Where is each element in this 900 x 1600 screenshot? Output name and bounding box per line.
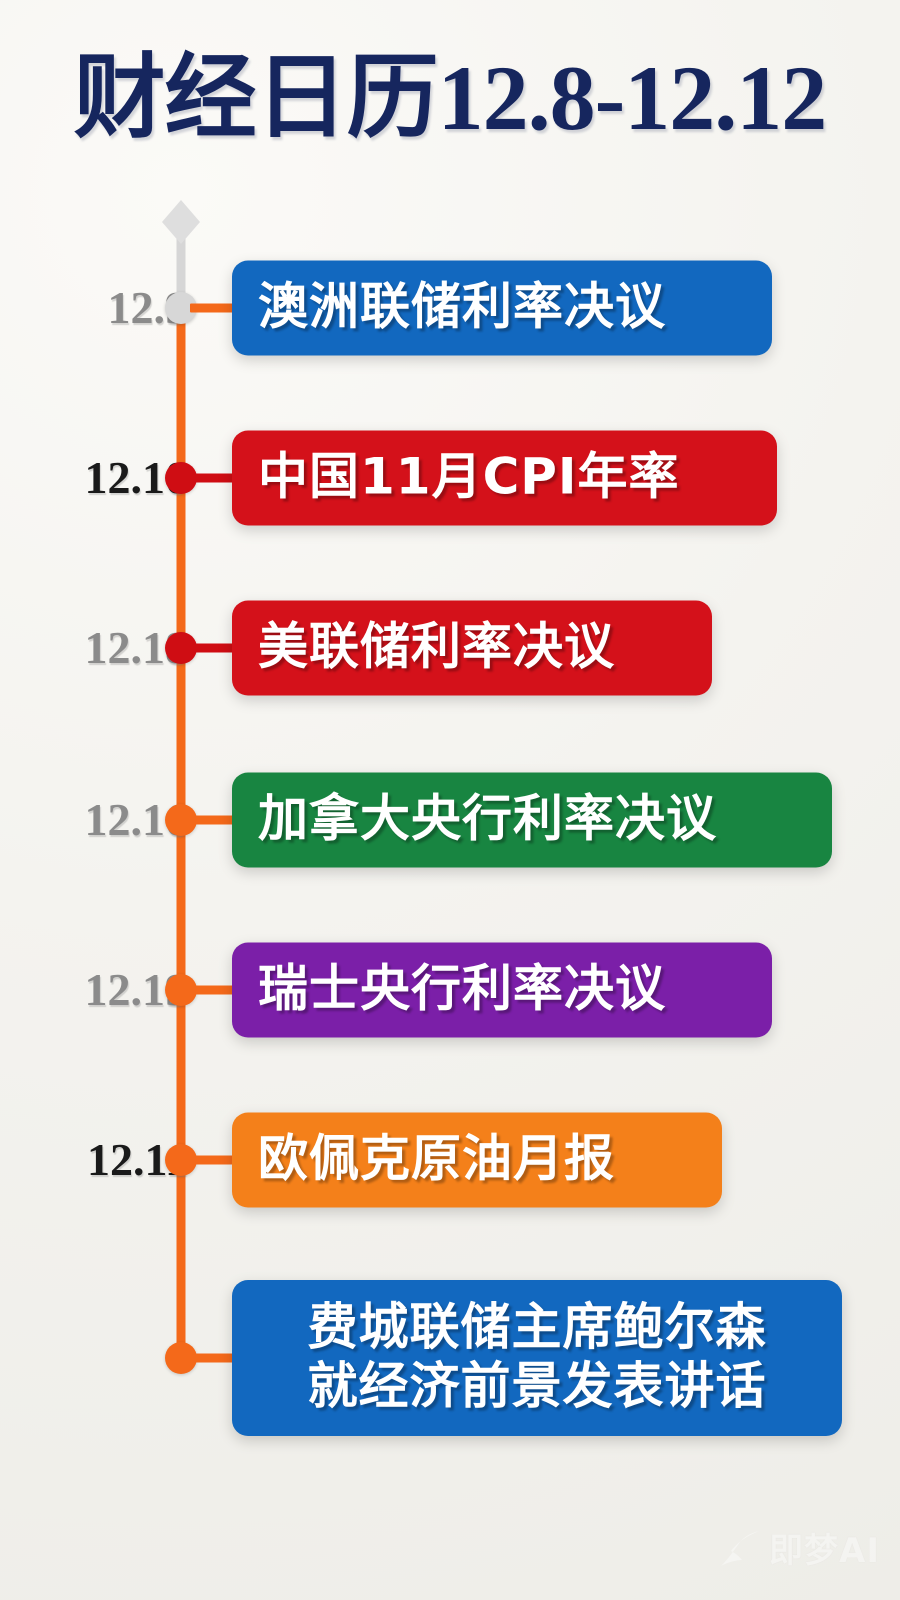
event-card[interactable]: 费城联储主席鲍尔森就经济前景发表讲话 [232, 1280, 842, 1436]
event-date-label: 12.19 [0, 967, 188, 1013]
event-card[interactable]: 瑞士央行利率决议 [232, 943, 772, 1038]
event-card[interactable]: 中国11月CPI年率 [232, 431, 777, 526]
spark-star-icon [719, 1527, 761, 1569]
event-date-label: 12.10 [0, 455, 188, 501]
event-card[interactable]: 澳洲联储利率决议 [232, 261, 772, 356]
watermark: 即梦AI [719, 1523, 880, 1572]
financial-calendar-poster: 财经日历12.8-12.12 12.9 澳洲联储利率决议 12.10 中国11月… [0, 0, 900, 1600]
event-card[interactable]: 美联储利率决议 [232, 601, 712, 696]
watermark-label: 即梦AI [769, 1523, 880, 1572]
event-date-label: 12.11 [0, 1137, 188, 1183]
event-date-label: 12.18 [0, 625, 188, 671]
page-title: 财经日历12.8-12.12 [0, 52, 900, 144]
event-date-label: 12.16 [0, 797, 188, 843]
event-card[interactable]: 加拿大央行利率决议 [232, 773, 832, 868]
event-card[interactable]: 欧佩克原油月报 [232, 1113, 722, 1208]
event-date-label: 12.9 [0, 285, 188, 331]
